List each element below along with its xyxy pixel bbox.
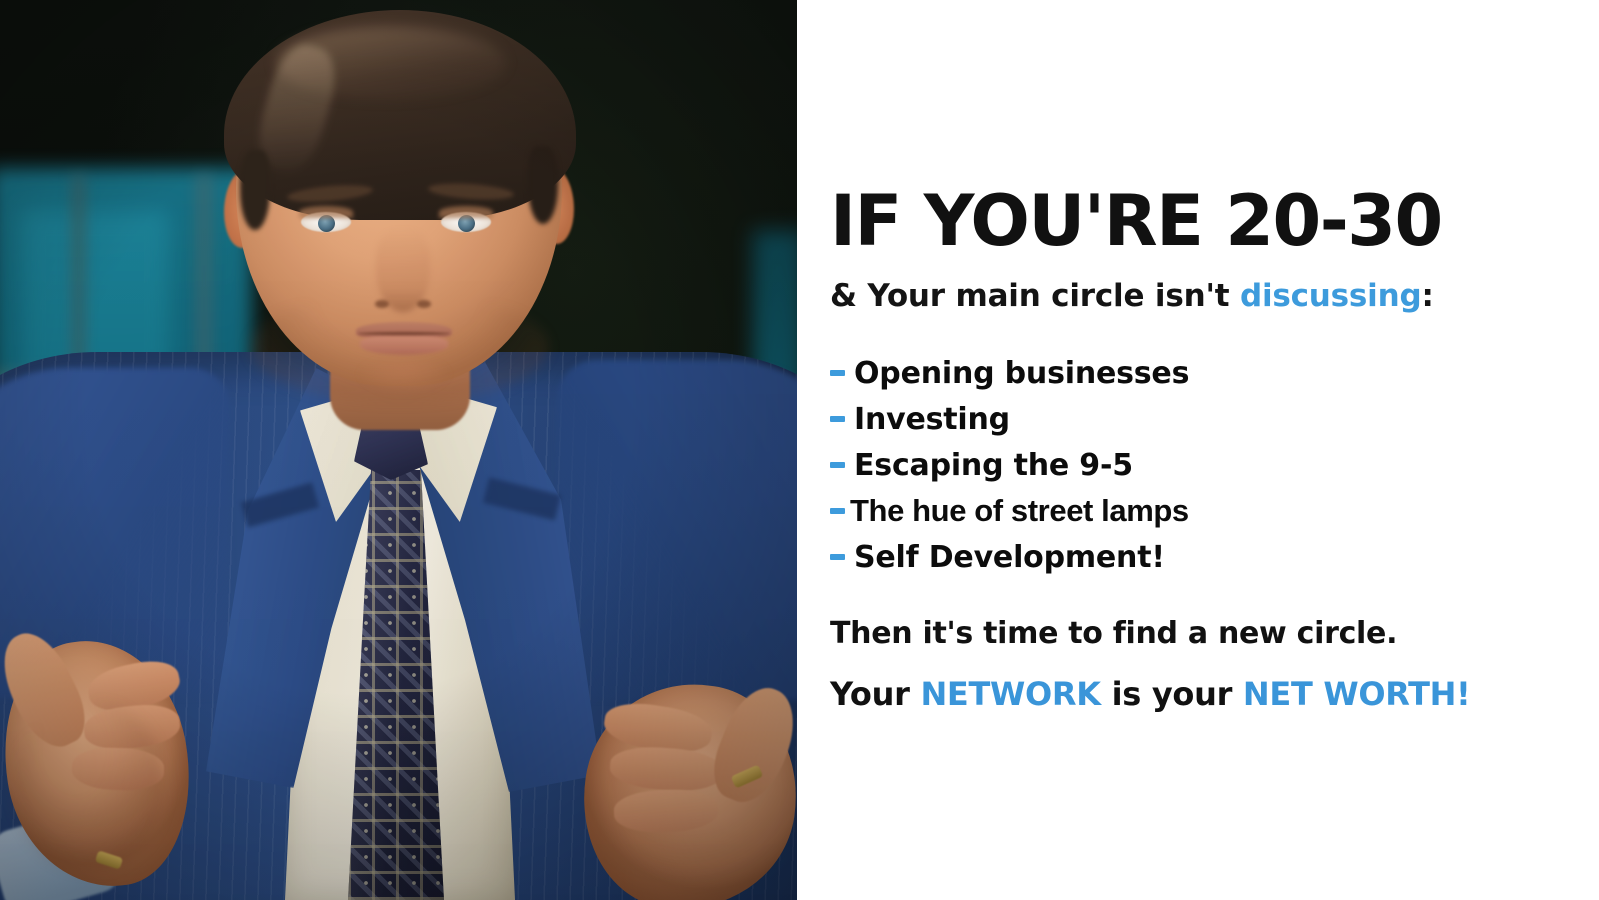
- subheadline-after: :: [1421, 278, 1433, 314]
- closing-line: Then it's time to find a new circle.: [830, 580, 1570, 651]
- subheadline-before: & Your main circle isn't: [830, 278, 1240, 314]
- subheadline: & Your main circle isn't discussing:: [830, 256, 1570, 314]
- text-column: IF YOU'RE 20-30 & Your main circle isn't…: [830, 0, 1570, 713]
- text-panel: IF YOU'RE 20-30 & Your main circle isn't…: [797, 0, 1599, 900]
- dash-bullet-icon: [830, 370, 845, 376]
- tagline-part-2: is your: [1101, 675, 1243, 713]
- photo-overlay: [0, 0, 797, 900]
- list-item: Investing: [830, 396, 1570, 442]
- tagline-accent-net-worth: NET WORTH!: [1243, 675, 1471, 713]
- tagline-part-1: Your: [830, 675, 920, 713]
- dash-bullet-icon: [830, 508, 845, 514]
- dash-bullet-icon: [830, 462, 845, 468]
- list-item: Escaping the 9-5: [830, 442, 1570, 488]
- list-item: Self Development!: [830, 534, 1570, 580]
- list-item-label: Escaping the 9-5: [854, 448, 1133, 483]
- tagline: Your NETWORK is your NET WORTH!: [830, 651, 1570, 713]
- list-item: Opening businesses: [830, 350, 1570, 396]
- dash-bullet-icon: [830, 416, 845, 422]
- list-item-label: The hue of street lamps: [850, 493, 1189, 529]
- headline: IF YOU'RE 20-30: [830, 0, 1570, 256]
- bullet-list: Opening businesses Investing Escaping th…: [830, 314, 1570, 580]
- subject-photo: [0, 0, 797, 900]
- dash-bullet-icon: [830, 554, 845, 560]
- list-item-label: Opening businesses: [854, 356, 1189, 391]
- list-item-label: Investing: [854, 402, 1010, 437]
- subheadline-accent-word: discussing: [1240, 278, 1422, 314]
- tagline-accent-network: NETWORK: [920, 675, 1100, 713]
- list-item-label: Self Development!: [854, 540, 1165, 575]
- list-item-edited: The hue of street lamps: [830, 488, 1570, 534]
- meme-image: IF YOU'RE 20-30 & Your main circle isn't…: [0, 0, 1599, 900]
